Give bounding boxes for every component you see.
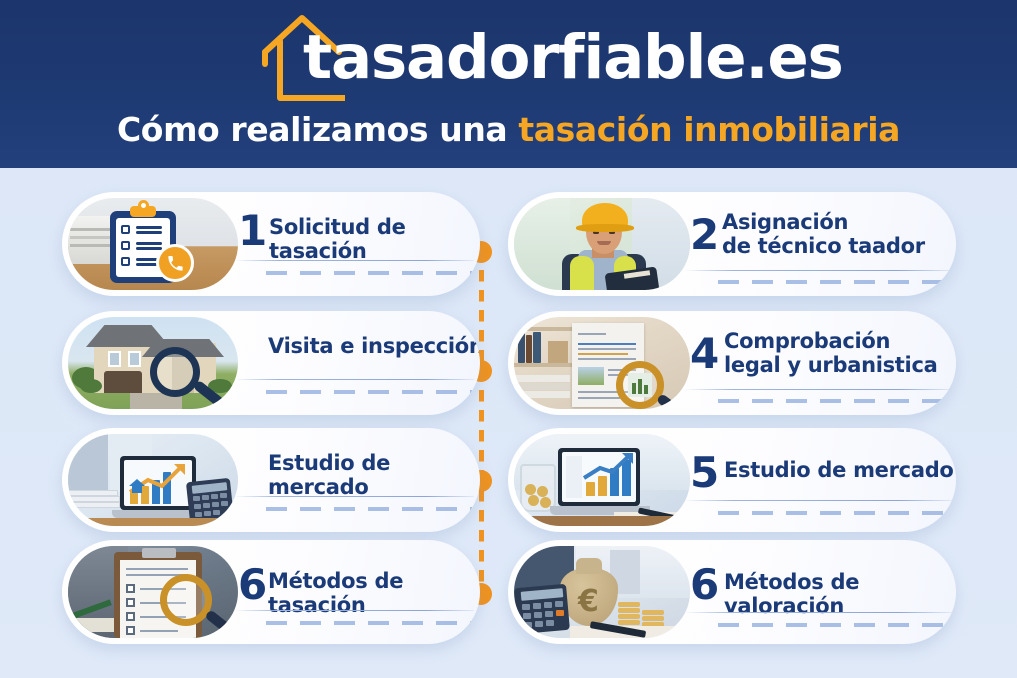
phone-handset-icon [166, 254, 185, 273]
header-banner: tasadorfiable.es Cómo realizamos una tas… [0, 0, 1017, 168]
step-dashes [266, 507, 472, 511]
step-card-1[interactable]: 1 Solicitud de tasación [62, 192, 480, 296]
magnifier-icon [150, 347, 200, 397]
magnifier-icon [160, 574, 212, 626]
step-number-4: 4 [690, 333, 719, 375]
logo-row: tasadorfiable.es [0, 8, 1017, 106]
step-title-6: Estudio de mercado [724, 459, 956, 483]
growth-arrow-icon [582, 452, 636, 482]
step-rule [684, 270, 952, 271]
step-dashes [266, 390, 472, 394]
logo-wordmark: tasadorfiable.es [303, 22, 843, 93]
step-image-4 [514, 317, 690, 409]
step-rule [234, 610, 474, 611]
subtitle-white-part: Cómo realizamos una [117, 110, 507, 149]
step-card-7[interactable]: 6 Métodos de tasación [62, 540, 480, 644]
step-number-8: 6 [690, 564, 719, 606]
step-title-5: Estudio de mercado [268, 452, 480, 499]
step-number-6: 5 [690, 452, 719, 494]
step-title-3: Visita e inspección [268, 335, 480, 359]
step-dashes [718, 623, 950, 627]
step-image-2 [514, 198, 690, 290]
step-rule [684, 500, 952, 501]
step-rule [234, 260, 474, 261]
step-card-5[interactable]: Estudio de mercado [62, 428, 480, 532]
step-card-3[interactable]: Visita e inspección [62, 311, 480, 415]
subtitle-orange-part: tasación inmobiliaria [518, 110, 900, 149]
step-rule [684, 612, 952, 613]
step-number-1: 1 [238, 210, 267, 252]
step-image-1 [68, 198, 238, 290]
step-card-2[interactable]: 2 Asignación de técnico taador [508, 192, 956, 296]
step-dashes [266, 621, 472, 625]
header-subtitle: Cómo realizamos una tasación inmobiliari… [0, 110, 1017, 149]
step-dashes [718, 280, 950, 284]
step-number-7: 6 [238, 564, 267, 606]
coin-stack-icon [618, 602, 640, 607]
step-title-1: Solicitud de tasación [269, 216, 480, 263]
step-dashes [266, 271, 472, 275]
step-rule [234, 379, 474, 380]
step-rule [234, 496, 474, 497]
step-title-8: Métodos de valoración [724, 571, 956, 618]
step-number-2: 2 [690, 214, 719, 256]
step-dashes [718, 399, 950, 403]
step-image-8: € [514, 546, 690, 638]
step-title-4: Comprobación legal y urbanistica [724, 330, 956, 377]
step-dashes [718, 511, 950, 515]
step-card-8[interactable]: € [508, 540, 956, 644]
step-image-6 [514, 434, 690, 526]
step-image-7 [68, 546, 238, 638]
infographic-page: tasadorfiable.es Cómo realizamos una tas… [0, 0, 1017, 678]
step-card-4[interactable]: 4 Comprobación legal y urbanistica [508, 311, 956, 415]
step-image-3 [68, 317, 238, 409]
logo: tasadorfiable.es [259, 8, 759, 106]
house-icon [128, 478, 146, 494]
step-rule [684, 389, 952, 390]
step-title-2: Asignación de técnico taador [722, 211, 956, 258]
step-image-5 [68, 434, 238, 526]
step-card-6[interactable]: 5 Estudio de mercado [508, 428, 956, 532]
